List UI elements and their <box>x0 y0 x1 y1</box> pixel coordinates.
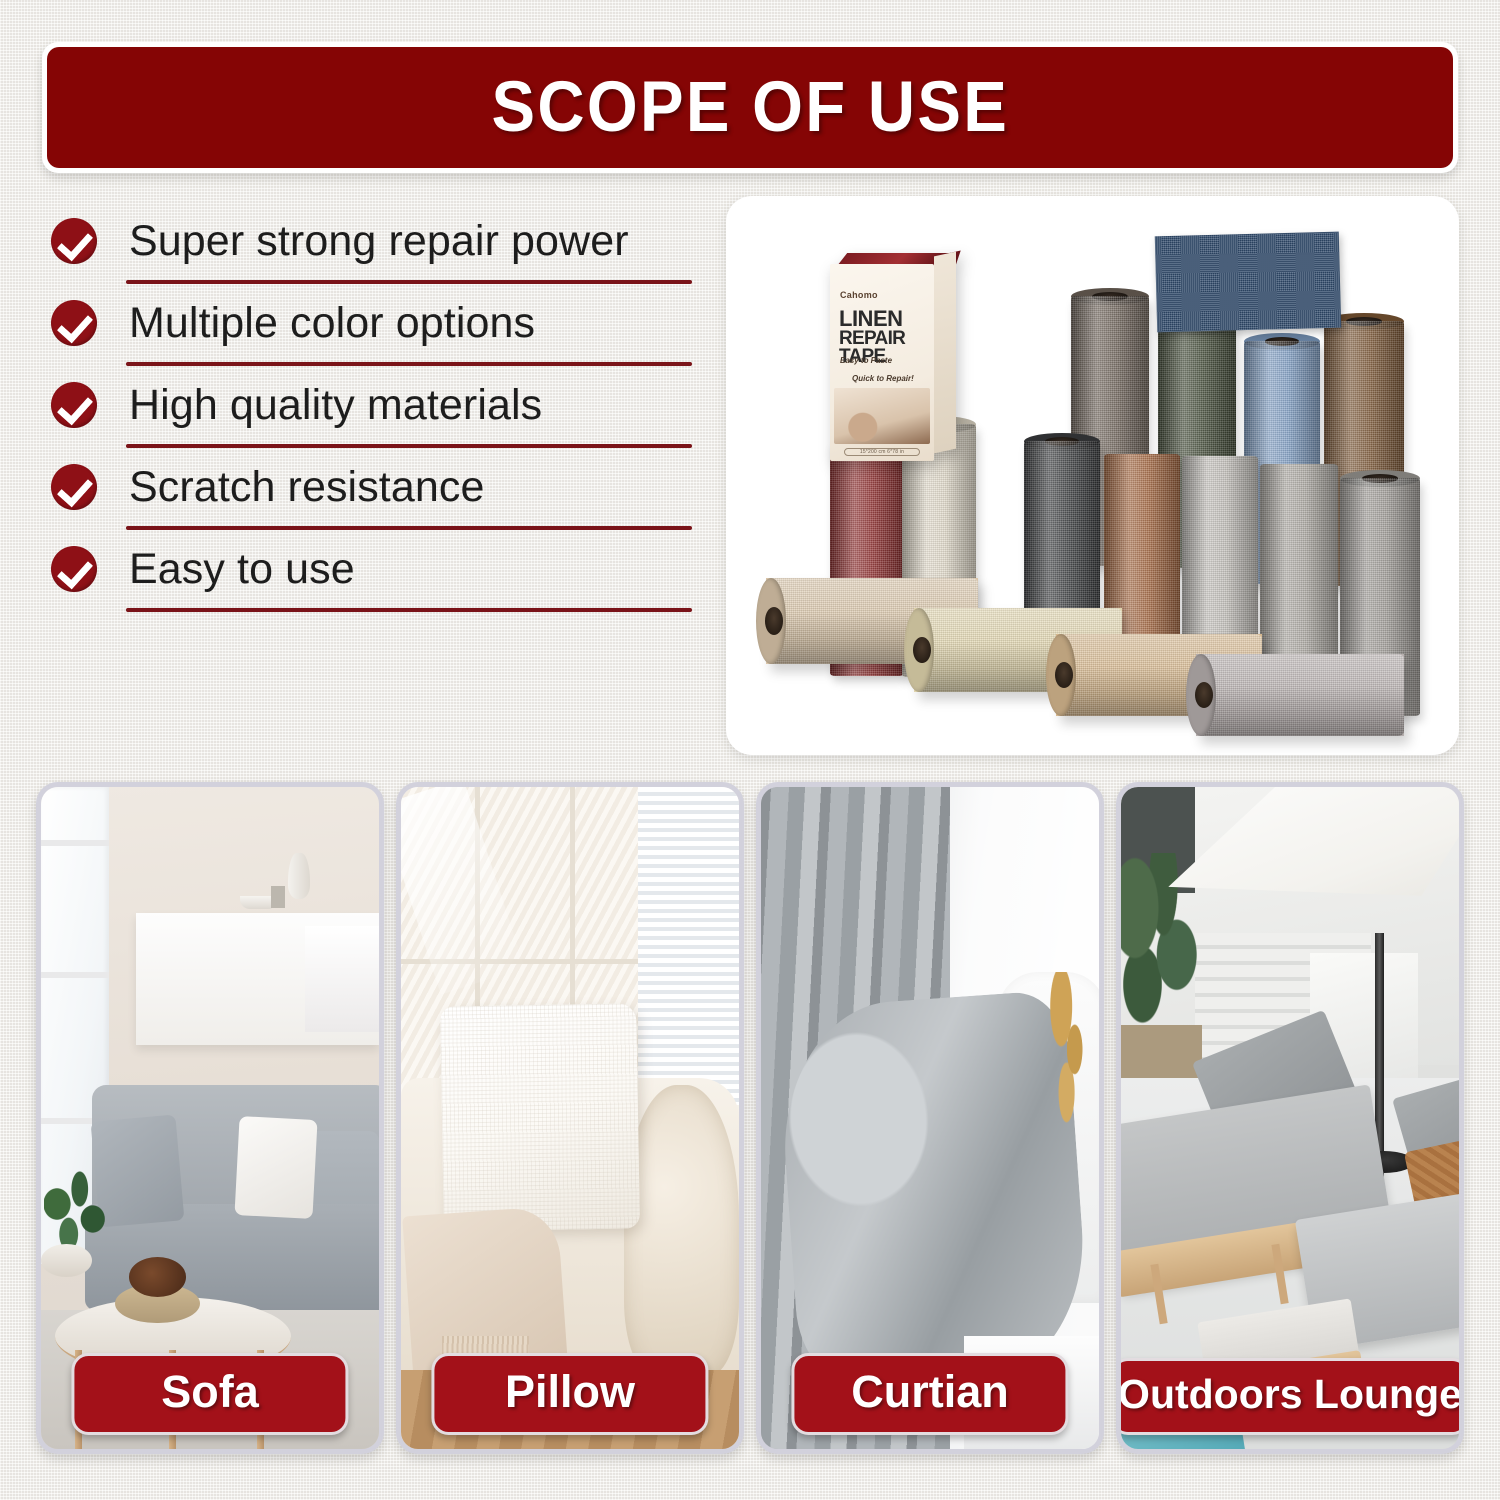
feature-item: Easy to use <box>48 530 700 608</box>
product-image-card: Cahomo LINEN REPAIR TAPE Easy to Paste Q… <box>726 196 1459 755</box>
panel-label-sofa: Sofa <box>71 1353 348 1435</box>
feature-label: Multiple color options <box>129 299 535 348</box>
pillow-photo <box>401 787 739 1449</box>
page-title: SCOPE OF USE <box>491 67 1009 148</box>
check-circle-icon <box>51 300 97 346</box>
check-circle-icon <box>51 382 97 428</box>
header-banner: SCOPE OF USE <box>47 47 1453 168</box>
use-case-panel-pillow[interactable]: Pillow <box>396 782 744 1454</box>
use-case-panel-sofa[interactable]: Sofa <box>36 782 384 1454</box>
feature-item: Super strong repair power <box>48 202 700 280</box>
feature-label: Super strong repair power <box>129 217 629 266</box>
panel-label-outdoors-lounge: Outdoors Lounge <box>1116 1358 1464 1435</box>
outdoors-lounge-photo <box>1121 787 1459 1449</box>
curtain-photo <box>761 787 1099 1449</box>
feature-label: High quality materials <box>129 381 542 430</box>
header-banner-card: SCOPE OF USE <box>42 42 1458 173</box>
check-circle-icon <box>51 546 97 592</box>
feature-item: High quality materials <box>48 366 700 444</box>
use-case-panels: Sofa Pillow Curtian <box>36 782 1464 1454</box>
feature-label: Scratch resistance <box>129 463 485 512</box>
feature-divider <box>126 608 692 612</box>
product-stage: Cahomo LINEN REPAIR TAPE Easy to Paste Q… <box>726 196 1459 755</box>
package-title-line1: LINEN <box>839 309 903 330</box>
check-circle-icon <box>51 218 97 264</box>
product-package-box: Cahomo LINEN REPAIR TAPE Easy to Paste Q… <box>830 254 956 461</box>
use-case-panel-curtain[interactable]: Curtian <box>756 782 1104 1454</box>
feature-label: Easy to use <box>129 545 355 594</box>
package-size-text: 15*200 cm 6*78 in <box>844 448 920 456</box>
panel-label-pillow: Pillow <box>431 1353 708 1435</box>
feature-item: Scratch resistance <box>48 448 700 526</box>
tape-roll-grey-beige <box>1196 654 1404 736</box>
check-circle-icon <box>51 464 97 510</box>
package-subtitle-1: Easy to Paste <box>840 356 892 365</box>
sofa-photo <box>41 787 379 1449</box>
package-subtitle-2: Quick to Repair! <box>852 374 914 383</box>
feature-item: Multiple color options <box>48 284 700 362</box>
package-brand: Cahomo <box>840 290 878 300</box>
use-case-panel-outdoors-lounge[interactable]: Outdoors Lounge <box>1116 782 1464 1454</box>
tape-swatch-navy-blue <box>1155 232 1341 333</box>
panel-label-curtain: Curtian <box>791 1353 1068 1435</box>
feature-list: Super strong repair power Multiple color… <box>48 202 700 750</box>
package-photo <box>834 388 930 444</box>
